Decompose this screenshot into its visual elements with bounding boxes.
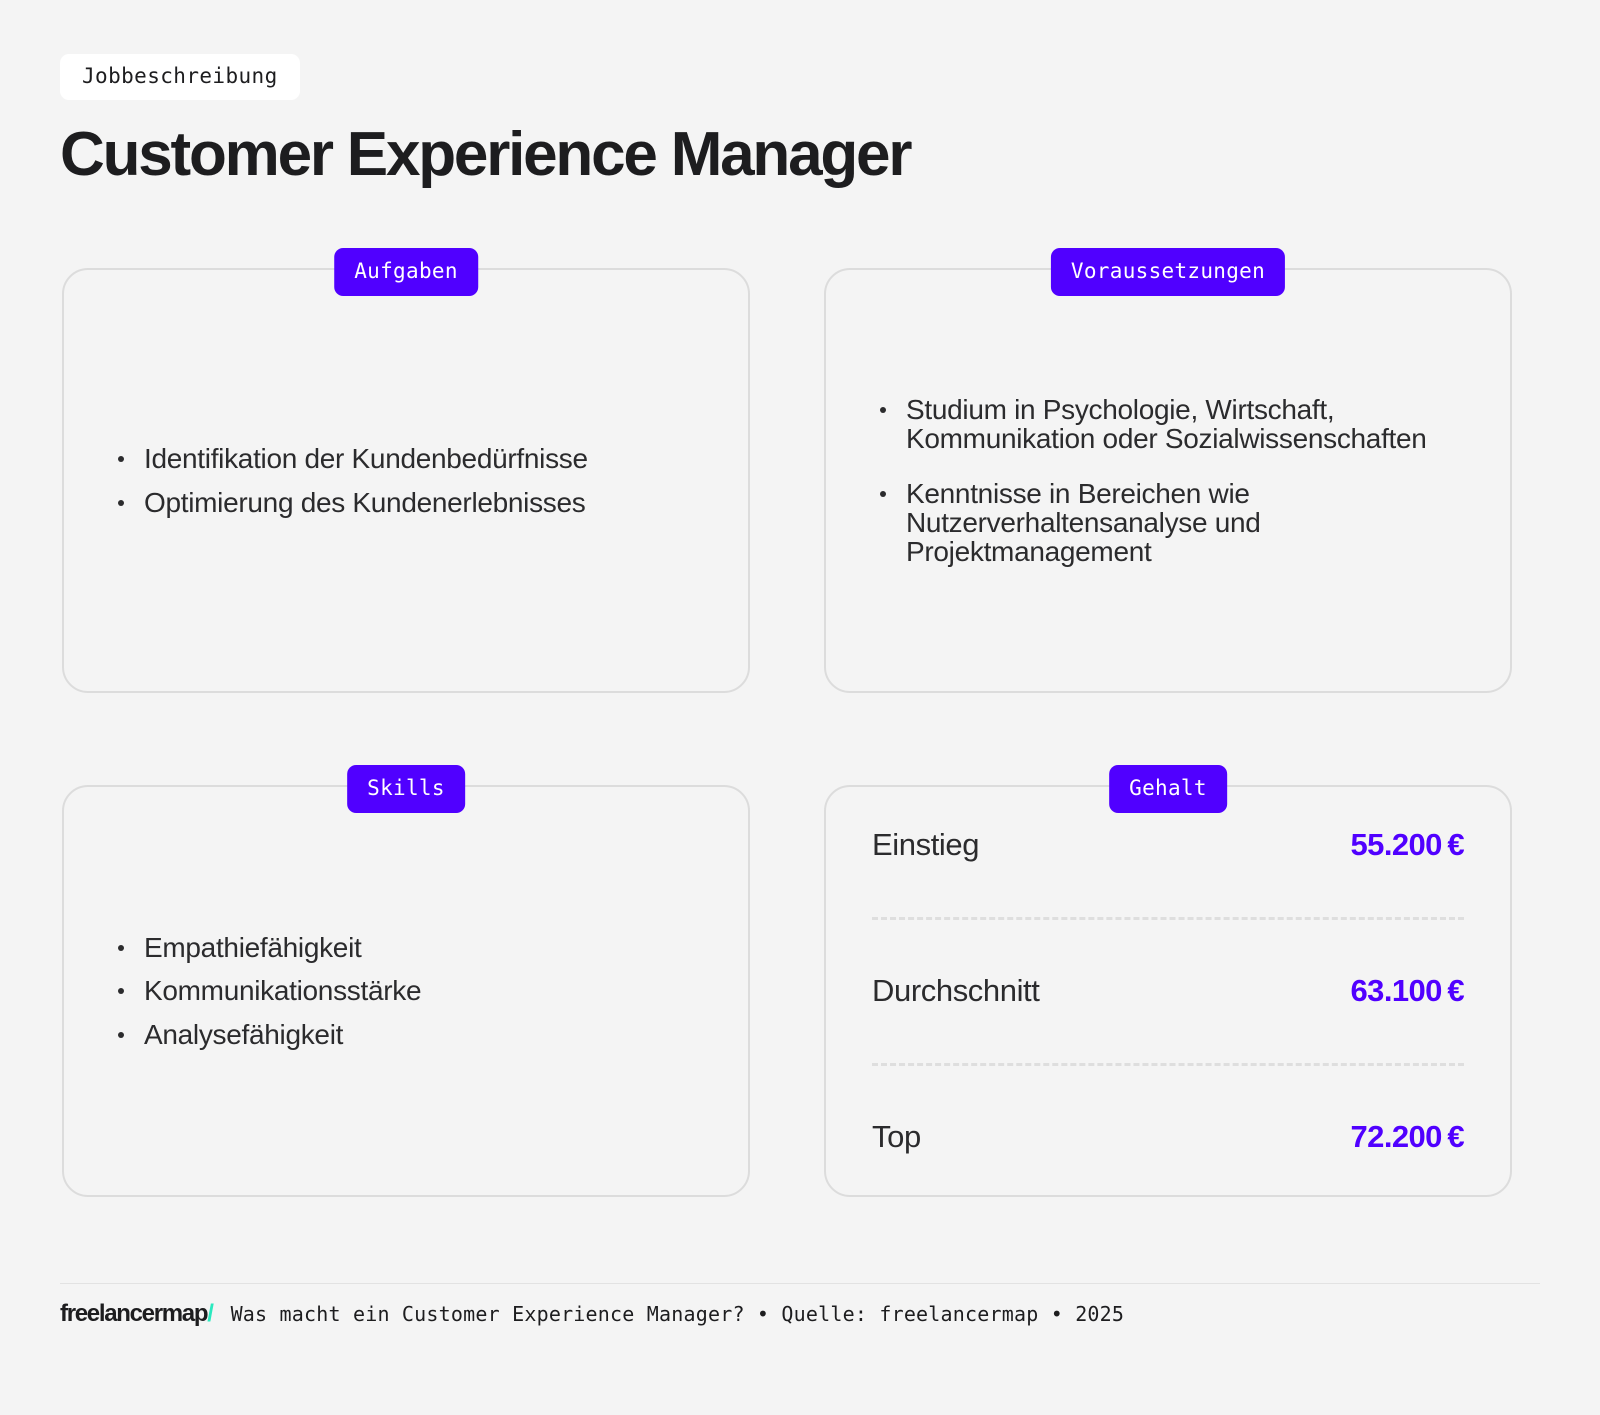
brand-logo: freelancermap/ <box>60 1300 213 1328</box>
infographic-page: Jobbeschreibung Customer Experience Mana… <box>0 0 1600 1415</box>
card-badge-aufgaben: Aufgaben <box>334 248 478 296</box>
list-item: Studium in Psychologie, Wirtschaft, Komm… <box>870 395 1466 453</box>
list-item: Kenntnisse in Bereichen wie Nutzerverhal… <box>870 479 1466 566</box>
list-item: Empathiefähigkeit <box>108 933 704 962</box>
salary-value: 55.200 € <box>1351 827 1464 863</box>
salary-separator <box>872 917 1464 920</box>
brand-slash-icon: / <box>207 1300 212 1327</box>
salary-label: Durchschnitt <box>872 973 1040 1009</box>
salary-value: 63.100 € <box>1351 973 1464 1009</box>
list-item: Kommunikationsstärke <box>108 976 704 1005</box>
header: Jobbeschreibung Customer Experience Mana… <box>60 54 1540 189</box>
voraussetzungen-list: Studium in Psychologie, Wirtschaft, Komm… <box>870 395 1466 567</box>
salary-label: Top <box>872 1119 921 1155</box>
brand-name: freelancermap <box>60 1300 207 1327</box>
card-badge-skills: Skills <box>347 765 465 813</box>
card-badge-gehalt: Gehalt <box>1109 765 1227 813</box>
footer-divider <box>60 1283 1540 1284</box>
card-body-skills: Empathiefähigkeit Kommunikationsstärke A… <box>64 933 748 1048</box>
salary-label: Einstieg <box>872 827 979 863</box>
page-title: Customer Experience Manager <box>60 122 1540 189</box>
skills-list: Empathiefähigkeit Kommunikationsstärke A… <box>108 933 704 1048</box>
card-aufgaben: Aufgaben Identifikation der Kundenbedürf… <box>62 268 750 693</box>
footer: freelancermap/ Was macht ein Customer Ex… <box>60 1300 1124 1328</box>
salary-row-top: Top 72.200 € <box>872 1115 1464 1159</box>
card-body-voraussetzungen: Studium in Psychologie, Wirtschaft, Komm… <box>826 395 1510 567</box>
list-item: Identifikation der Kundenbedürfnisse <box>108 444 704 473</box>
footer-source-text: Was macht ein Customer Experience Manage… <box>231 1302 1125 1326</box>
salary-value: 72.200 € <box>1351 1119 1464 1155</box>
card-grid: Aufgaben Identifikation der Kundenbedürf… <box>62 268 1512 1197</box>
card-badge-voraussetzungen: Voraussetzungen <box>1051 248 1285 296</box>
card-body-aufgaben: Identifikation der Kundenbedürfnisse Opt… <box>64 444 748 516</box>
aufgaben-list: Identifikation der Kundenbedürfnisse Opt… <box>108 444 704 516</box>
card-skills: Skills Empathiefähigkeit Kommunikationss… <box>62 785 750 1197</box>
salary-row-einstieg: Einstieg 55.200 € <box>872 823 1464 867</box>
card-voraussetzungen: Voraussetzungen Studium in Psychologie, … <box>824 268 1512 693</box>
eyebrow-tag: Jobbeschreibung <box>60 54 300 100</box>
list-item: Optimierung des Kundenerlebnisses <box>108 488 704 517</box>
salary-row-durchschnitt: Durchschnitt 63.100 € <box>872 969 1464 1013</box>
salary-separator <box>872 1063 1464 1066</box>
list-item: Analysefähigkeit <box>108 1020 704 1049</box>
card-gehalt: Gehalt Einstieg 55.200 € Durchschnitt 63… <box>824 785 1512 1197</box>
salary-table: Einstieg 55.200 € Durchschnitt 63.100 € … <box>826 823 1510 1159</box>
